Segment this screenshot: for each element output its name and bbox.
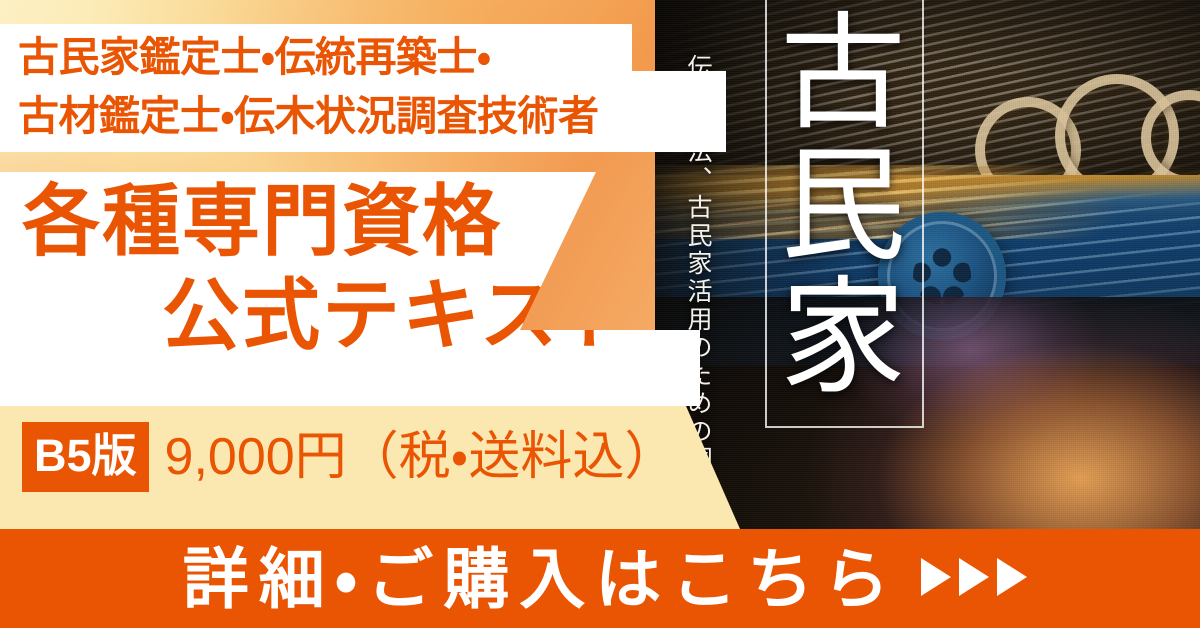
cta-arrow-group (921, 558, 1027, 600)
certifications-text: 古民家鑑定士・伝統再築士・ 古材鑑定士・伝木状況調査技術者 (18, 28, 598, 147)
price-panel: B5版 9,000円（税・送料込） (0, 406, 740, 529)
price-amount: 9,000円（税・送料込） (165, 431, 677, 483)
certifications-panel: 古民家鑑定士・伝統再築士・ 古材鑑定士・伝木状況調査技術者 (0, 24, 726, 152)
triangle-right-icon (959, 558, 989, 596)
triangle-right-icon (921, 558, 951, 596)
cta-label: 詳細・ご購入はこちら (173, 546, 899, 612)
cover-photograph (655, 0, 1200, 531)
triangle-right-icon (997, 558, 1027, 596)
headline-line-1: 各種専門資格 (22, 182, 502, 260)
cover-title: 古民家 (775, 6, 911, 402)
cta-button-bar[interactable]: 詳細・ご購入はこちら (0, 529, 1200, 628)
price-row: B5版 9,000円（税・送料込） (22, 422, 676, 492)
format-badge: B5版 (22, 422, 149, 492)
book-cover-image: 伝統構法、古民家活用のための調査と再生の 古民家 (655, 0, 1200, 531)
promo-banner: 伝統構法、古民家活用のための調査と再生の 古民家 古民家鑑定士・伝統再築士・ 古… (0, 0, 1200, 628)
cover-photo-grain (655, 0, 1200, 531)
